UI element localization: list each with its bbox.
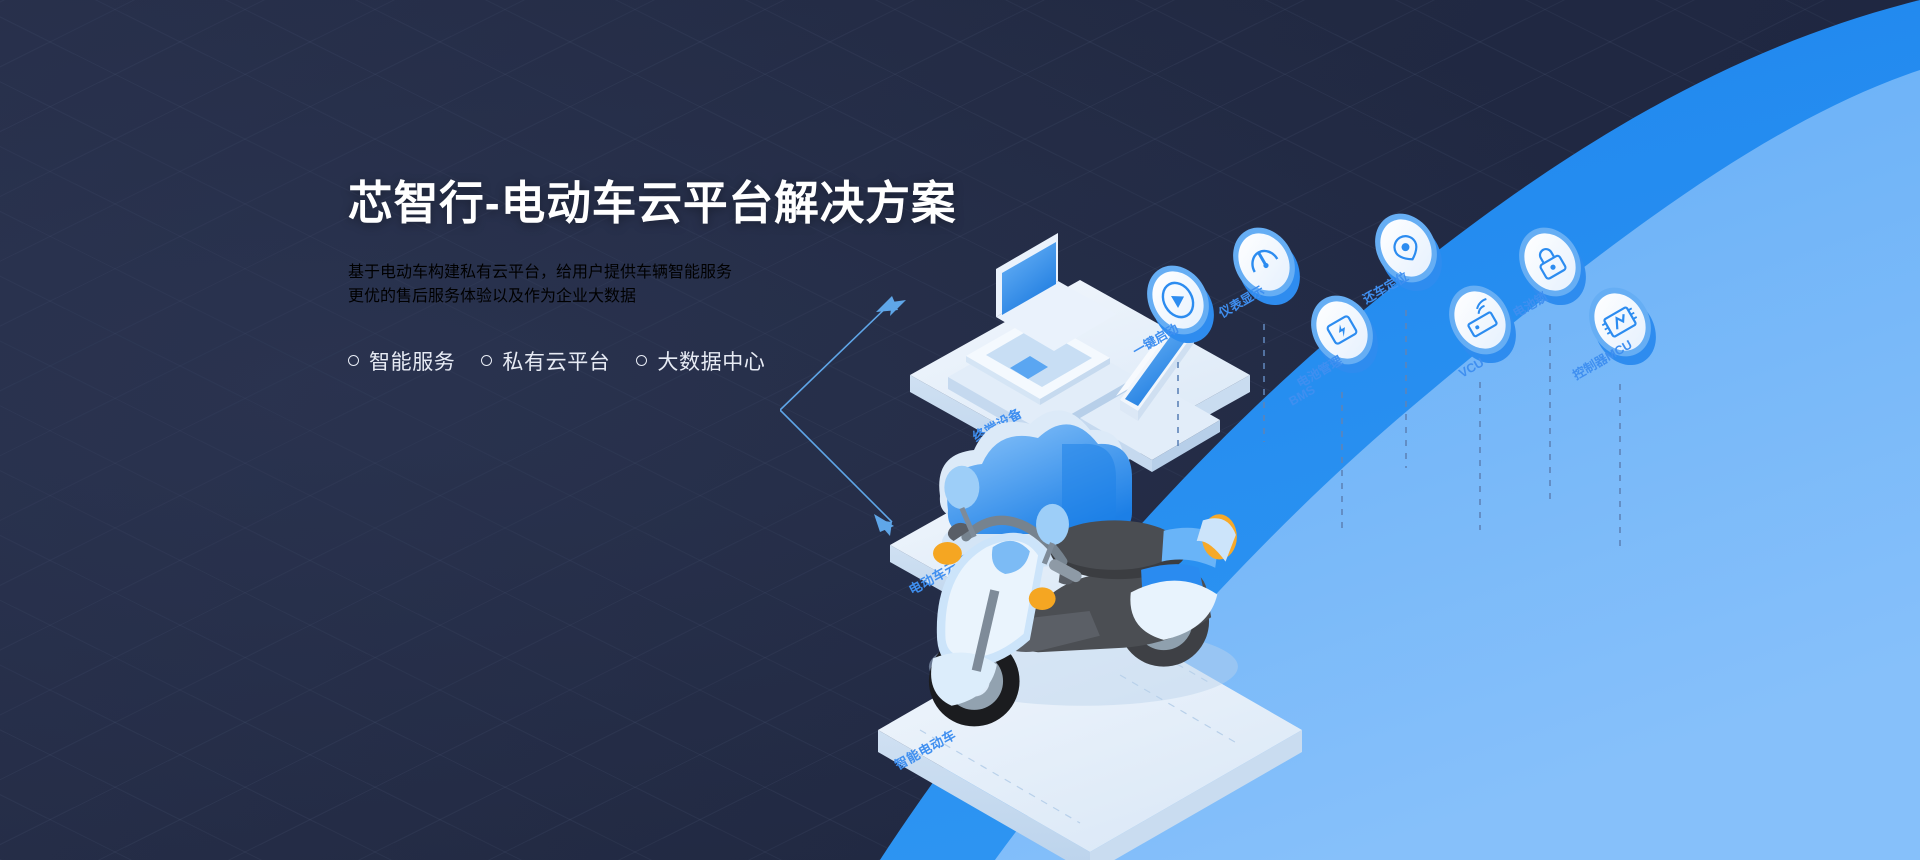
feature-bullet-item[interactable]: 私有云平台 [481, 346, 610, 376]
feature-badge-label: 仪表显示 [1215, 282, 1267, 321]
feature-badge[interactable]: 仪表显示 [1215, 216, 1312, 442]
wireless-module-icon [1437, 274, 1528, 374]
feature-bullet-item[interactable]: 大数据中心 [636, 346, 765, 376]
connector-cloud-terminal [780, 296, 906, 536]
feature-badge[interactable]: 电池管理 BMS [1287, 284, 1391, 530]
lock-icon [1507, 216, 1598, 316]
feature-bullet-label: 智能服务 [369, 346, 455, 376]
feature-badge[interactable]: 电池锁 [1507, 216, 1598, 502]
feature-bullet-item[interactable]: 智能服务 [348, 346, 455, 376]
feature-badge-sublabel: BMS [1287, 383, 1318, 409]
circle-outline-icon [636, 355, 647, 366]
feature-badge[interactable]: 控制器MCU [1570, 276, 1668, 552]
circle-outline-icon [348, 355, 359, 366]
feature-badge-label: 电池管理 [1294, 352, 1345, 390]
isometric-illustration: 终端设备 电动车云平台 [780, 170, 1920, 860]
feature-bullet-label: 私有云平台 [502, 346, 610, 376]
feature-badge-label: 电池锁 [1510, 289, 1550, 321]
banner-stage: 芯智行-电动车云平台解决方案 基于电动车构建私有云平台，给用户提供车辆智能服务 … [0, 0, 1920, 860]
circle-outline-icon [481, 355, 492, 366]
feature-bullet-label: 大数据中心 [657, 346, 765, 376]
